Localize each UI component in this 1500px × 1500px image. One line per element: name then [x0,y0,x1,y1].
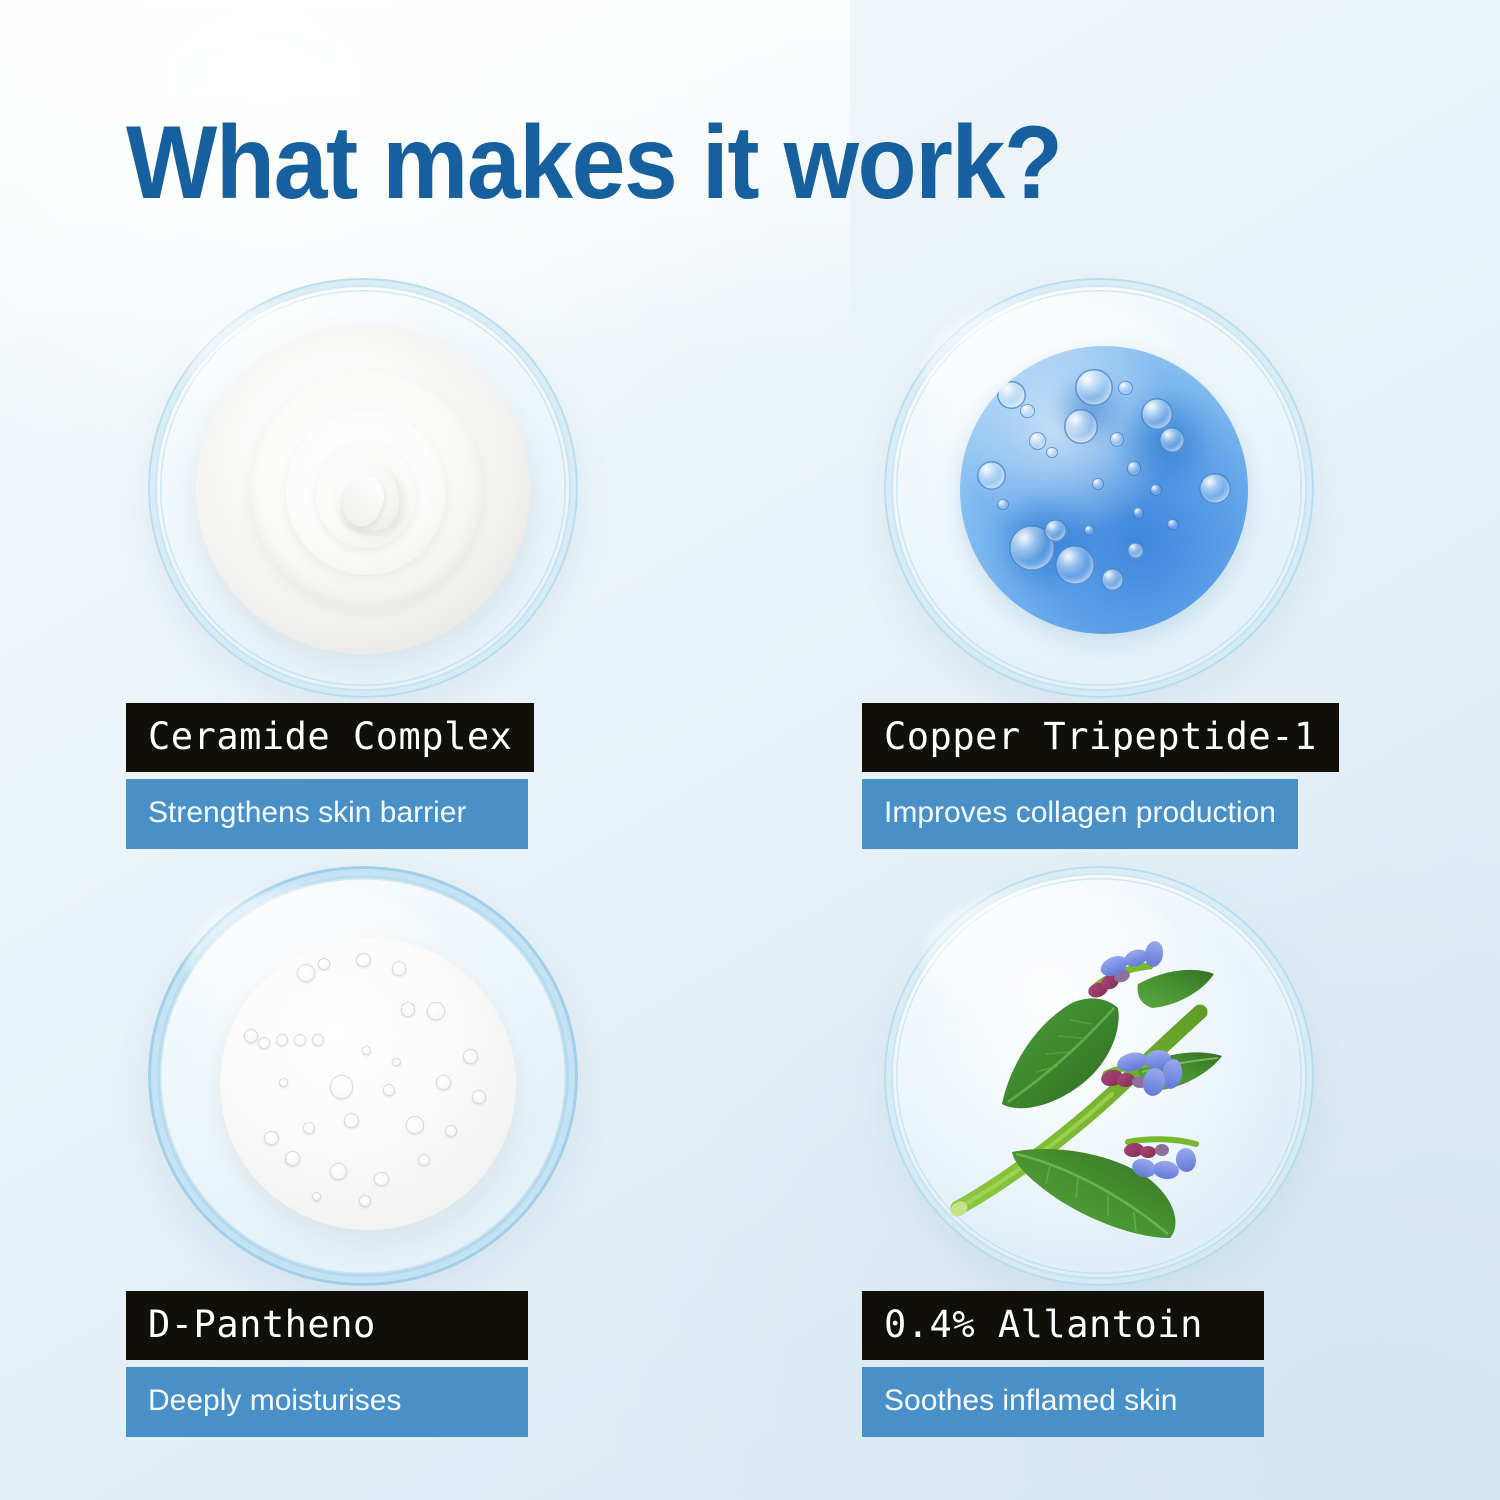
gel-bubble [303,1122,315,1134]
ingredient-benefit: Deeply moisturises [126,1367,528,1437]
gel-bubble [356,953,371,968]
cream-swirl-texture [196,324,530,654]
gel-bubble [997,499,1009,511]
flower-bud [1155,1144,1169,1156]
flower-bud [1140,1146,1156,1158]
petri-dish-d-pantheno [148,866,578,1286]
clear-gel-texture [220,938,516,1230]
gel-bubble [1029,432,1046,449]
ingredient-name: D-Pantheno [126,1291,528,1360]
blue-gel-texture [960,346,1248,634]
comfrey-plant [942,908,1262,1238]
gel-bubble [977,461,1006,490]
gel-bubble [344,1113,359,1128]
petri-dish-copper-tripeptide [884,278,1314,698]
ingredient-name: Ceramide Complex [126,703,534,772]
ingredient-label-block: 0.4% Allantoin Soothes inflamed skin [862,1291,1264,1437]
gel-bubble [1101,568,1124,591]
ingredient-label-block: Ceramide Complex Strengthens skin barrie… [126,703,534,849]
gel-bubble [330,1163,348,1181]
gel-bubble [1159,427,1185,453]
plant-leaf [1138,970,1214,1008]
gel-bubble [1141,398,1173,430]
gel-bubble [383,1084,395,1096]
gel-bubble [1167,519,1179,531]
gel-bubble [1044,519,1067,542]
gel-bubble [1092,478,1104,490]
gel-bubble [1127,461,1141,475]
gel-bubble [472,1090,487,1105]
gel-bubble [276,1034,288,1046]
ingredient-label-block: Copper Tripeptide-1 Improves collagen pr… [862,703,1339,849]
gel-bubble [330,1075,354,1098]
gel-bubble [1199,473,1231,505]
gel-bubble [1055,545,1095,585]
gel-bubble [1064,409,1099,444]
comfrey-plant-illustration [942,908,1262,1238]
gel-bubble [392,1058,401,1067]
flower-bell [1152,1159,1180,1180]
gel-bubble [406,1116,424,1134]
gel-bubble [445,1125,457,1137]
gel-bubble [1133,507,1145,519]
gel-bubble [312,1192,321,1201]
ingredient-label-block: D-Pantheno Deeply moisturises [126,1291,528,1437]
petri-dish-allantoin [884,866,1314,1286]
gel-bubble [1075,369,1112,406]
gel-bubble [258,1037,270,1049]
gel-bubble [463,1049,478,1064]
gel-bubble [279,1078,288,1087]
ingredient-benefit: Strengthens skin barrier [126,779,528,849]
ingredient-name: 0.4% Allantoin [862,1291,1264,1360]
gel-bubble [401,1002,416,1017]
gel-bubble [362,1046,371,1055]
ingredient-benefit: Soothes inflamed skin [862,1367,1264,1437]
gel-bubble [285,1151,300,1166]
ingredient-name: Copper Tripeptide-1 [862,703,1339,772]
gel-bubble [1020,404,1034,418]
gel-bubble [392,961,407,976]
gel-bubble [359,1195,371,1207]
gel-bubble [1127,542,1144,559]
gel-bubble [1118,381,1132,395]
ingredient-benefit: Improves collagen production [862,779,1298,849]
gel-bubble [1110,432,1124,446]
gel-bubble [297,964,315,982]
gel-bubble [312,1034,324,1046]
infographic-canvas: What makes it work? Ceramide Complex Str… [0,0,1500,1500]
gel-bubble [436,1075,451,1090]
gel-bubble [244,1029,259,1044]
gel-bubble [1046,447,1058,459]
petri-dish-ceramide [148,278,578,698]
gel-bubble [1150,484,1162,496]
gel-bubble [264,1131,279,1146]
gel-bubble [418,1154,430,1166]
gel-bubble [374,1172,389,1187]
gel-bubble [318,958,330,970]
gel-bubble [294,1034,306,1046]
gel-bubble [427,1002,445,1020]
page-title: What makes it work? [126,110,1062,216]
